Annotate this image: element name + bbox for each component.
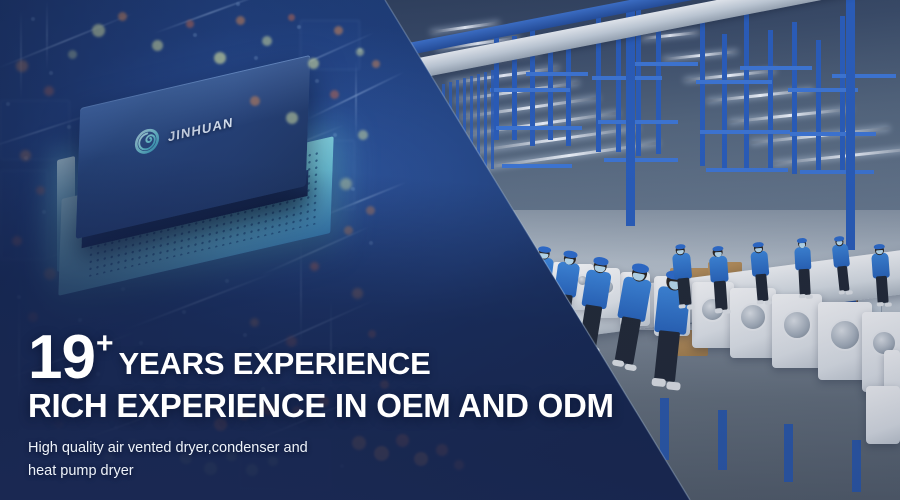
subcopy-block: High quality air vented dryer,condenser …	[28, 437, 648, 482]
subcopy-line-2: heat pump dryer	[28, 460, 648, 482]
years-line: 19 + YEARS EXPERIENCE	[28, 331, 648, 386]
promo-banner: JINHUAN 19 +	[0, 0, 900, 500]
subcopy-line-1: High quality air vented dryer,condenser …	[28, 437, 648, 459]
years-number: 19	[28, 331, 95, 386]
headline-block: 19 + YEARS EXPERIENCE RICH EXPERIENCE IN…	[28, 331, 648, 482]
headline-secondary: RICH EXPERIENCE IN OEM AND ODM	[28, 387, 648, 425]
plus-sign: +	[96, 329, 114, 359]
years-experience-label: YEARS EXPERIENCE	[119, 346, 431, 382]
